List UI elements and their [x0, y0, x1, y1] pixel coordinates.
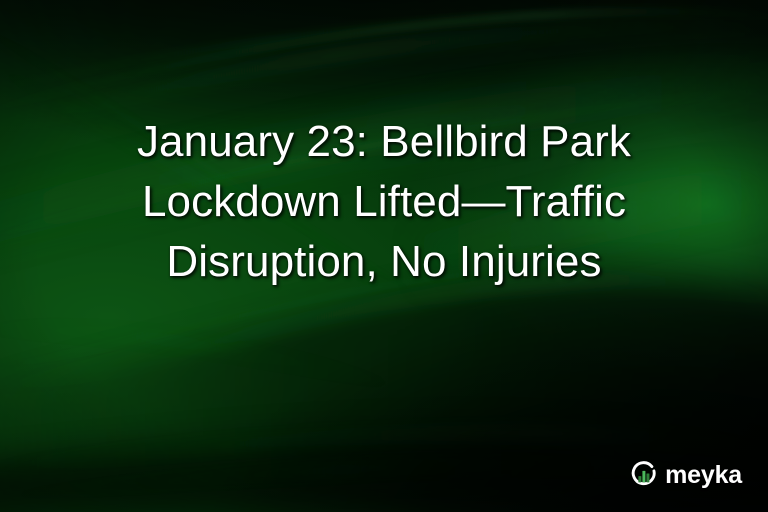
headline: January 23: Bellbird Park Lockdown Lifte… [0, 112, 768, 292]
news-banner-card: January 23: Bellbird Park Lockdown Lifte… [0, 0, 768, 512]
circular-bar-chart-icon [629, 460, 659, 490]
headline-line-3: Disruption, No Injuries [46, 232, 722, 292]
headline-line-1: January 23: Bellbird Park [46, 112, 722, 172]
brand-name: meyka [665, 463, 742, 488]
headline-line-2: Lockdown Lifted—Traffic [46, 172, 722, 232]
brand-logo: meyka [629, 460, 742, 490]
